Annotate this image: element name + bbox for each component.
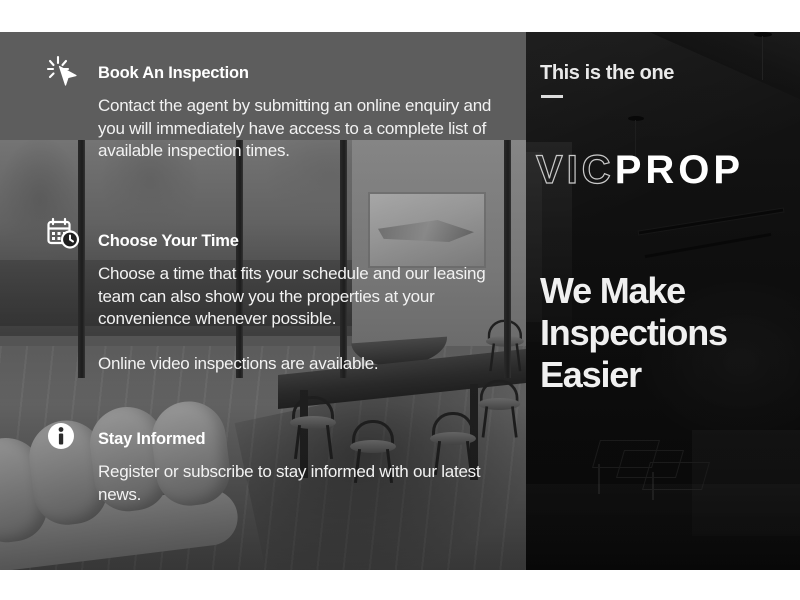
feature-choose-your-time: Choose Your Time Choose a time that fits… — [46, 228, 506, 376]
feature-body: Contact the agent by submitting an onlin… — [98, 95, 506, 163]
kicker-text: This is the one — [540, 62, 674, 85]
headline: We Make Inspections Easier — [540, 270, 798, 395]
feature-body: Choose a time that fits your schedule an… — [98, 263, 498, 376]
feature-title: Stay Informed — [98, 426, 506, 448]
feature-header: Stay Informed — [46, 426, 506, 456]
calendar-clock-icon — [46, 216, 80, 250]
feature-header: Choose Your Time — [46, 228, 506, 258]
feature-list: Book An Inspection Contact the agent by … — [0, 32, 526, 570]
feature-body: Register or subscribe to stay informed w… — [98, 461, 506, 506]
feature-title: Choose Your Time — [98, 228, 506, 250]
info-circle-icon — [46, 420, 80, 454]
promo-banner: Book An Inspection Contact the agent by … — [0, 32, 800, 570]
vicprop-logo: VICPROP — [536, 150, 744, 190]
feature-stay-informed: Stay Informed Register or subscribe to s… — [46, 426, 506, 506]
feature-header: Book An Inspection — [46, 60, 506, 90]
screenshot-stage: Book An Inspection Contact the agent by … — [0, 0, 800, 600]
logo-solid-part: PROP — [615, 148, 744, 192]
brand-panel: This is the one VICPROP We Make Inspecti… — [526, 32, 800, 570]
kicker-rule — [541, 95, 563, 98]
logo-outline-part: VIC — [536, 148, 615, 192]
feature-book-an-inspection: Book An Inspection Contact the agent by … — [46, 60, 506, 163]
cursor-click-icon — [46, 54, 80, 88]
feature-title: Book An Inspection — [98, 60, 506, 82]
